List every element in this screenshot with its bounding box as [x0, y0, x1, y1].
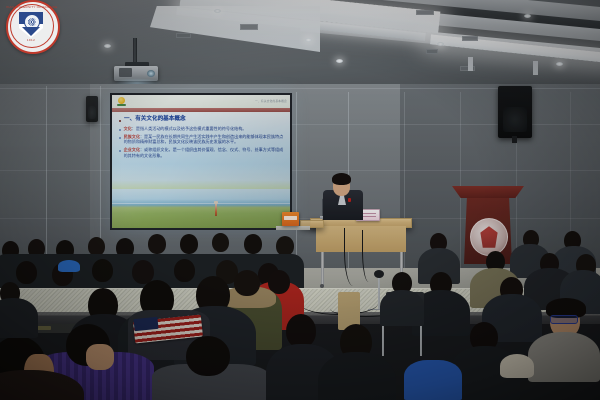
eyeglasses-icon	[550, 315, 578, 324]
bullet-1-text: ：是指人类活动的模式以及给予这些模式重要性的符号化结构。	[132, 126, 247, 131]
ceiling-hanger-1	[468, 57, 473, 71]
ceiling-vent-3	[416, 10, 434, 15]
audience-head	[244, 234, 262, 254]
audience-shoulders	[380, 290, 424, 326]
audience-shoulders	[528, 332, 600, 382]
audience-head	[276, 236, 294, 256]
audience-head	[180, 234, 198, 254]
wall-speaker-right	[498, 86, 532, 138]
audience-head	[234, 270, 260, 296]
audience-head	[16, 261, 37, 284]
audience-shoulders	[0, 298, 38, 338]
presentation-slide: 一、有关文化的基本概念 一、有关文化的基本概念 文化：是指人类活动的模式以及给予…	[112, 95, 290, 228]
blue-jacket-attendee	[404, 360, 462, 400]
downlight-4	[336, 59, 343, 63]
downlight-5	[437, 42, 444, 46]
downlight-7	[556, 62, 563, 66]
bullet-3-text: ：或称组织文化，是一个组织由其价值观、信念、仪式、符号、处事方式等组成的其特有的…	[124, 147, 284, 157]
projector-lens	[147, 70, 155, 77]
projector-vent	[119, 68, 132, 77]
slide-photo-horizon	[112, 203, 290, 204]
audience-head	[286, 314, 316, 348]
ceiling-hanger-2	[533, 61, 538, 75]
slide-title-row: 一、有关文化的基本概念	[119, 116, 284, 123]
audience-head	[212, 233, 229, 252]
slide-bullet-3: 企业文化：或称组织文化，是一个组织由其价值观、信念、仪式、符号、处事方式等组成的…	[119, 147, 284, 158]
lectern-top	[452, 186, 524, 198]
audience-head	[174, 259, 195, 282]
university-seal-watermark: XIAN UNIVERSITY OF SCIENCE 1912	[6, 0, 56, 50]
wall-panel-row-2	[0, 170, 600, 171]
presenter-lapel-badge	[348, 198, 351, 202]
bullet-3-keyword: 企业文化	[124, 147, 140, 152]
seal-year-text: 1912	[6, 38, 56, 42]
audience-shoulders	[318, 352, 396, 400]
wall-speaker-left	[86, 96, 98, 122]
ceiling-vent-6	[426, 49, 438, 54]
slide-title-bullet-icon	[119, 120, 121, 122]
slide-body: 一、有关文化的基本概念 文化：是指人类活动的模式以及给予这些模式重要性的符号化结…	[112, 113, 290, 189]
audience-head	[186, 336, 230, 376]
ceiling-vent-1	[240, 24, 258, 30]
slide-header: 一、有关文化的基本概念	[112, 95, 290, 108]
bullet-dot-icon	[119, 129, 121, 131]
ceiling-vent-2	[176, 33, 191, 38]
slide-bullet-1: 文化：是指人类活动的模式以及给予这些模式重要性的符号化结构。	[119, 126, 284, 131]
slide-accent-bar	[112, 108, 290, 112]
slide-title: 一、有关文化的基本概念	[124, 116, 186, 123]
seal-arc-top-text: XIAN UNIVERSITY OF SCIENCE	[6, 5, 56, 9]
audience-head	[92, 259, 113, 282]
cream-scarf	[500, 354, 534, 378]
slide-bullet-2: 民族文化：是某一民族在长期共同生产生活实践中产生和创造出来的能够体现本民族特点的…	[119, 134, 284, 145]
bullet-dot-icon	[119, 137, 121, 139]
slide-logo-icon	[117, 97, 126, 107]
audience-head	[148, 234, 166, 254]
downlight-6	[524, 14, 531, 18]
downlight-3	[305, 38, 312, 42]
wall-speaker-right-bracket	[512, 136, 517, 143]
blue-beanie	[58, 260, 80, 272]
ceiling-vent-4	[462, 36, 478, 41]
bullet-2-text: ：是某一民族在长期共同生产生活实践中产生和创造出来的能够体现本民族特点的物质和精…	[124, 134, 284, 144]
downlight-1	[104, 44, 111, 48]
lecture-hall-photo: 一、有关文化的基本概念 一、有关文化的基本概念 文化：是指人类活动的模式以及给予…	[0, 0, 600, 400]
bullet-1-keyword: 文化	[124, 126, 132, 131]
presenter-hair	[332, 173, 351, 185]
seated-audience	[0, 210, 600, 400]
slide-header-text: 一、有关文化的基本概念	[255, 99, 287, 103]
bullet-dot-icon	[119, 150, 121, 152]
downlight-2	[214, 9, 221, 13]
audience-face	[86, 344, 114, 370]
american-flag-canton	[133, 317, 158, 331]
